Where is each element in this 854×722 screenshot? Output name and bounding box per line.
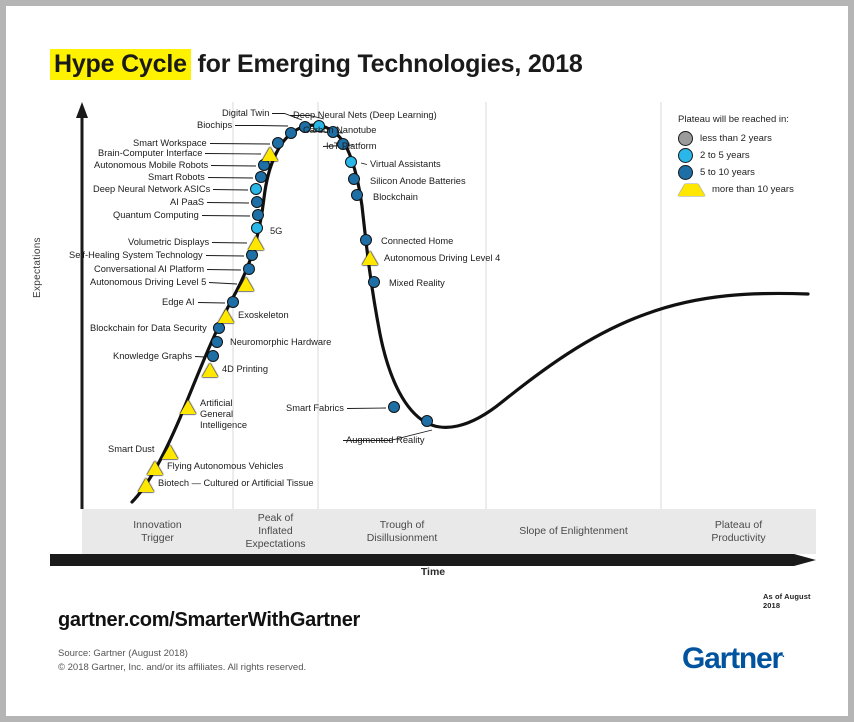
hype-marker-label: Smart Workspace xyxy=(133,138,207,149)
legend-item-2: 5 to 10 years xyxy=(678,164,848,181)
hype-marker[interactable] xyxy=(162,445,178,459)
phase-label-line: Trigger xyxy=(133,532,181,545)
phase-label-line: Plateau of xyxy=(711,519,765,532)
phase-label-line: Disillusionment xyxy=(367,532,438,545)
phase-label-0: InnovationTrigger xyxy=(82,509,233,554)
hype-marker-label: Flying Autonomous Vehicles xyxy=(167,461,283,472)
phase-band: InnovationTriggerPeak ofInflatedExpectat… xyxy=(82,509,816,554)
hype-marker[interactable] xyxy=(255,171,267,183)
hype-marker-label: Conversational AI Platform xyxy=(94,264,204,275)
hype-marker[interactable] xyxy=(213,322,225,334)
hype-marker[interactable] xyxy=(211,336,223,348)
phase-label-4: Plateau ofProductivity xyxy=(661,509,816,554)
page-title: Hype Cycle for Emerging Technologies, 20… xyxy=(50,50,583,79)
hype-marker-label: Smart Robots xyxy=(148,172,205,183)
source-line: Source: Gartner (August 2018) xyxy=(58,647,306,661)
hype-marker[interactable] xyxy=(388,401,400,413)
phase-label-3: Slope of Enlightenment xyxy=(486,509,661,554)
hype-marker[interactable] xyxy=(362,251,378,265)
hype-marker-label: Edge AI xyxy=(162,297,195,308)
legend-item-1: 2 to 5 years xyxy=(678,147,848,164)
hype-marker-label: Biotech — Cultured or Artificial Tissue xyxy=(158,478,314,489)
hype-marker-label: Knowledge Graphs xyxy=(113,351,192,362)
legend-circle-swatch xyxy=(678,165,693,180)
phase-label-2: Trough ofDisillusionment xyxy=(318,509,486,554)
hype-marker-label: Autonomous Driving Level 4 xyxy=(384,253,500,264)
hype-marker[interactable] xyxy=(207,350,219,362)
legend-triangle-swatch xyxy=(678,184,705,196)
hype-marker-label: IoT Platform xyxy=(326,141,376,152)
hype-marker-label: Mixed Reality xyxy=(389,278,445,289)
hype-marker-label: Brain-Computer Interface xyxy=(98,148,202,159)
legend-title: Plateau will be reached in: xyxy=(678,114,848,125)
legend-item-label: more than 10 years xyxy=(712,184,794,195)
phase-label-line: Inflated xyxy=(245,525,305,538)
hype-marker[interactable] xyxy=(351,189,363,201)
hype-marker[interactable] xyxy=(285,127,297,139)
hype-marker[interactable] xyxy=(272,137,284,149)
hype-marker-label: Autonomous Mobile Robots xyxy=(94,160,208,171)
gartner-logo-text: Gartner xyxy=(682,642,782,675)
legend: Plateau will be reached in: less than 2 … xyxy=(678,114,848,198)
as-of-note: As of August 2018 xyxy=(763,592,816,610)
hype-marker[interactable] xyxy=(360,234,372,246)
hype-marker[interactable] xyxy=(248,236,264,250)
hype-marker[interactable] xyxy=(227,296,239,308)
hype-marker-label: Silicon Anode Batteries xyxy=(370,176,466,187)
legend-item-3: more than 10 years xyxy=(678,181,848,198)
hype-marker[interactable] xyxy=(251,196,263,208)
legend-item-label: 5 to 10 years xyxy=(700,167,755,178)
hype-marker[interactable] xyxy=(348,173,360,185)
hype-marker[interactable] xyxy=(368,276,380,288)
hype-marker-label: Deep Neural Nets (Deep Learning) xyxy=(293,110,437,121)
hype-marker[interactable] xyxy=(250,183,262,195)
hype-marker-label: Smart Dust xyxy=(108,444,155,455)
gartner-url[interactable]: gartner.com/SmarterWithGartner xyxy=(58,609,360,632)
legend-item-0: less than 2 years xyxy=(678,130,848,147)
hype-marker-label: 4D Printing xyxy=(222,364,268,375)
hype-marker-label: 5G xyxy=(270,226,282,237)
hype-marker[interactable] xyxy=(180,400,196,414)
hype-marker[interactable] xyxy=(238,277,254,291)
hype-marker[interactable] xyxy=(202,363,218,377)
hype-marker-label: Connected Home xyxy=(381,236,453,247)
hype-marker-label: Carbon Nanotube xyxy=(303,125,376,136)
phase-label-1: Peak ofInflatedExpectations xyxy=(233,509,318,554)
hype-marker-label: Quantum Computing xyxy=(113,210,199,221)
gartner-logo: Gartner. xyxy=(682,642,785,676)
phase-label-line: Innovation xyxy=(133,519,181,532)
hype-marker-label: Blockchain for Data Security xyxy=(90,323,207,334)
hype-marker[interactable] xyxy=(246,249,258,261)
phase-label-line: Productivity xyxy=(711,532,765,545)
legend-item-label: less than 2 years xyxy=(700,133,772,144)
hype-marker-label: Digital Twin xyxy=(222,108,269,119)
hype-marker-label: Self-Healing System Technology xyxy=(69,250,203,261)
hype-marker[interactable] xyxy=(147,461,163,475)
hype-marker[interactable] xyxy=(243,263,255,275)
source-note: Source: Gartner (August 2018) © 2018 Gar… xyxy=(58,647,306,675)
hype-marker[interactable] xyxy=(218,309,234,323)
title-highlight: Hype Cycle xyxy=(50,49,191,80)
x-axis-arrow xyxy=(50,554,816,566)
hype-marker-label: Smart Fabrics xyxy=(286,403,344,414)
hype-marker[interactable] xyxy=(345,156,357,168)
hype-marker-label: Virtual Assistants xyxy=(370,159,441,170)
hype-marker-label: Autonomous Driving Level 5 xyxy=(90,277,206,288)
y-axis-label: Expectations xyxy=(32,178,43,298)
hype-marker-label: Deep Neural Network ASICs xyxy=(93,184,210,195)
hype-marker-label: Augmented Reality xyxy=(346,435,425,446)
copyright-line: © 2018 Gartner, Inc. and/or its affiliat… xyxy=(58,661,306,675)
hype-marker[interactable] xyxy=(252,209,264,221)
hype-marker-label: Biochips xyxy=(197,120,232,131)
legend-circle-swatch xyxy=(678,148,693,163)
hype-cycle-infographic: Hype Cycle for Emerging Technologies, 20… xyxy=(0,0,854,722)
hype-marker[interactable] xyxy=(262,147,278,161)
title-rest: for Emerging Technologies, 2018 xyxy=(191,50,583,78)
legend-item-label: 2 to 5 years xyxy=(700,150,750,161)
phase-label-line: Slope of Enlightenment xyxy=(519,525,628,538)
phase-label-line: Expectations xyxy=(245,538,305,551)
hype-marker[interactable] xyxy=(251,222,263,234)
hype-marker[interactable] xyxy=(421,415,433,427)
hype-marker-label: AI PaaS xyxy=(170,197,204,208)
registered-mark: . xyxy=(782,649,785,660)
hype-marker[interactable] xyxy=(138,478,154,492)
hype-marker-label: Artificial General Intelligence xyxy=(200,398,266,431)
phase-label-line: Trough of xyxy=(367,519,438,532)
hype-marker-label: Neuromorphic Hardware xyxy=(230,337,331,348)
hype-marker-label: Blockchain xyxy=(373,192,418,203)
legend-circle-swatch xyxy=(678,131,693,146)
hype-marker-label: Exoskeleton xyxy=(238,310,289,321)
x-axis-label: Time xyxy=(6,566,854,578)
phase-label-line: Peak of xyxy=(245,512,305,525)
hype-marker-label: Volumetric Displays xyxy=(128,237,209,248)
